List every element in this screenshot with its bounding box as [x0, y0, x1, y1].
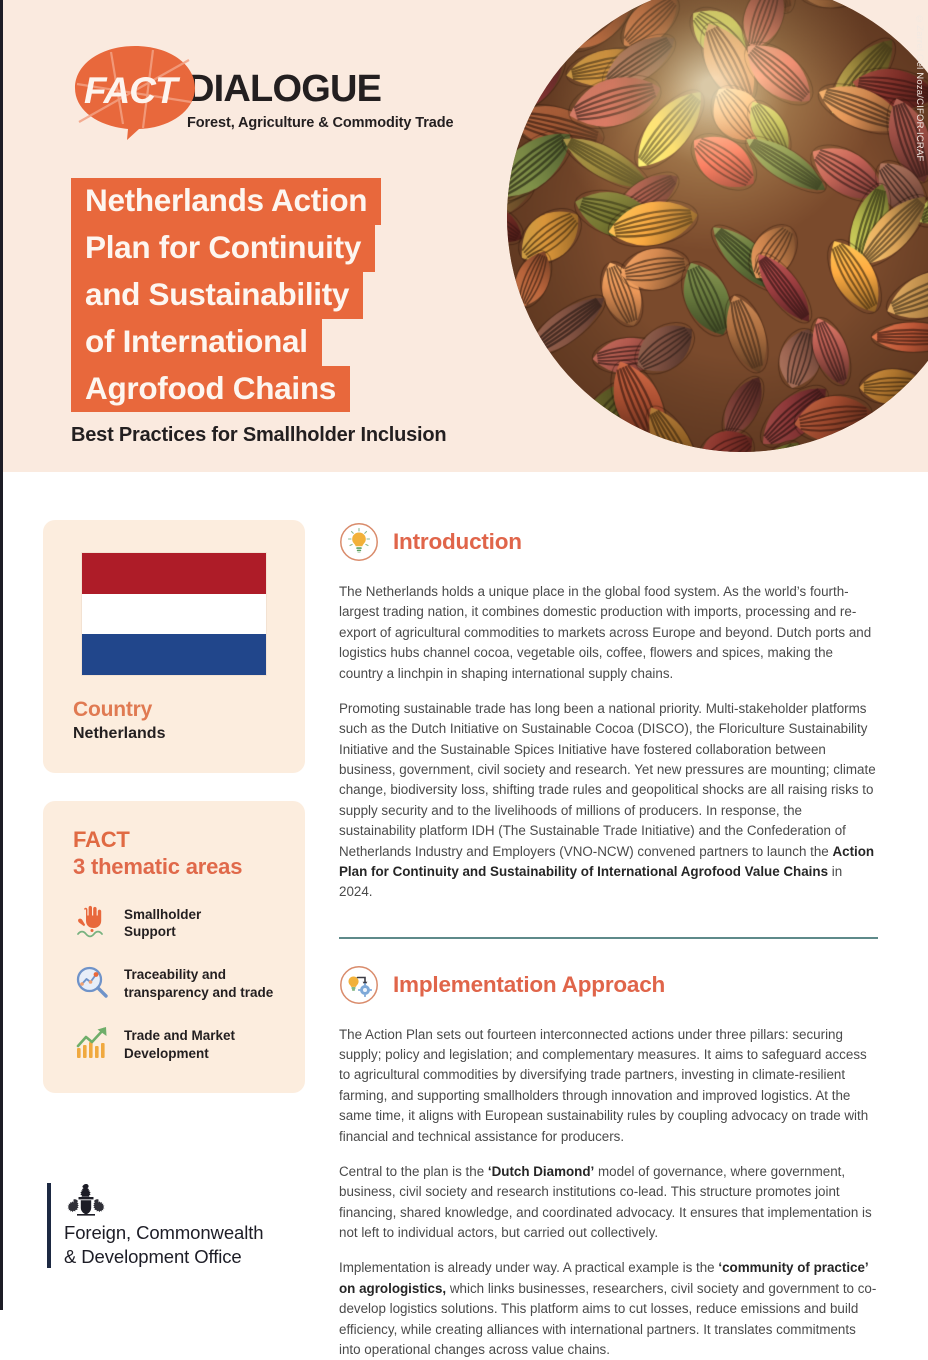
logo-fact-text: FACT: [84, 70, 177, 112]
country-value: Netherlands: [73, 725, 275, 743]
logo-dialogue-text: DIALOGUE: [187, 70, 453, 108]
magnifier-chart-icon: [73, 963, 111, 1001]
fact-card-title-line1: FACT: [73, 827, 275, 854]
page-title: Netherlands ActionPlan for Continuityand…: [71, 178, 381, 412]
growth-chart-icon: [73, 1024, 111, 1062]
thematic-area-label: Traceability andtransparency and trade: [124, 963, 273, 1002]
hand-plant-icon: [73, 903, 111, 941]
photo-credit: ©Zarrel Gel Noza/CIFOR-ICRAF: [914, 14, 925, 162]
section-title: Introduction: [393, 529, 522, 555]
fact-card-title: FACT 3 thematic areas: [73, 827, 275, 881]
lightbulb-gear-icon: [339, 965, 379, 1005]
fact-dialogue-logo: FACT DIALOGUE Forest, Agriculture & Comm…: [71, 44, 453, 140]
fact-thematic-areas-card: FACT 3 thematic areas SmallholderSupport…: [43, 801, 305, 1093]
logo-tagline: Forest, Agriculture & Commodity Trade: [187, 115, 453, 131]
thematic-area-item-3: Trade and MarketDevelopment: [73, 1024, 275, 1063]
page-subtitle: Best Practices for Smallholder Inclusion: [71, 424, 446, 447]
section-header: Implementation Approach: [339, 965, 878, 1005]
section-header: Introduction: [339, 522, 878, 562]
thematic-area-label: Trade and MarketDevelopment: [124, 1024, 235, 1063]
page-title-line-5: Agrofood Chains: [71, 366, 350, 413]
royal-coat-of-arms-icon: [64, 1183, 108, 1217]
page-title-line-4: of International: [71, 319, 322, 366]
section-divider: [339, 937, 878, 939]
page-header: ©Zarrel Gel Noza/CIFOR-ICRAF FACT DIALOG…: [3, 0, 928, 472]
country-label: Country: [73, 698, 275, 722]
fact-card-title-line2: 3 thematic areas: [73, 854, 275, 881]
page-title-line-1: Netherlands Action: [71, 178, 381, 225]
fcdo-line-1: Foreign, Commonwealth: [64, 1221, 263, 1244]
page-title-line-3: and Sustainability: [71, 272, 363, 319]
fcdo-logo: Foreign, Commonwealth & Development Offi…: [47, 1183, 263, 1268]
country-card: Country Netherlands: [43, 520, 305, 773]
body-paragraph: The Action Plan sets out fourteen interc…: [339, 1025, 878, 1147]
thematic-area-item-2: Traceability andtransparency and trade: [73, 963, 275, 1002]
section-title: Implementation Approach: [393, 972, 665, 998]
thematic-area-list: SmallholderSupportTraceability andtransp…: [73, 903, 275, 1063]
page-title-line-2: Plan for Continuity: [71, 225, 375, 272]
body-paragraph: The Netherlands holds a unique place in …: [339, 582, 878, 684]
netherlands-flag: [81, 552, 267, 676]
main-column: IntroductionThe Netherlands holds a uniq…: [339, 520, 878, 1360]
hero-photo: [507, 0, 928, 452]
lightbulb-icon: [339, 522, 379, 562]
leaf-speech-bubble-icon: FACT: [71, 44, 199, 140]
footer-accent-bar: [47, 1183, 51, 1268]
thematic-area-item-1: SmallholderSupport: [73, 903, 275, 942]
body-paragraph: Promoting sustainable trade has long bee…: [339, 699, 878, 903]
body-paragraph: Central to the plan is the ‘Dutch Diamon…: [339, 1162, 878, 1244]
body-paragraph: Implementation is already under way. A p…: [339, 1258, 878, 1360]
fcdo-line-2: & Development Office: [64, 1245, 263, 1268]
thematic-area-label: SmallholderSupport: [124, 903, 201, 942]
